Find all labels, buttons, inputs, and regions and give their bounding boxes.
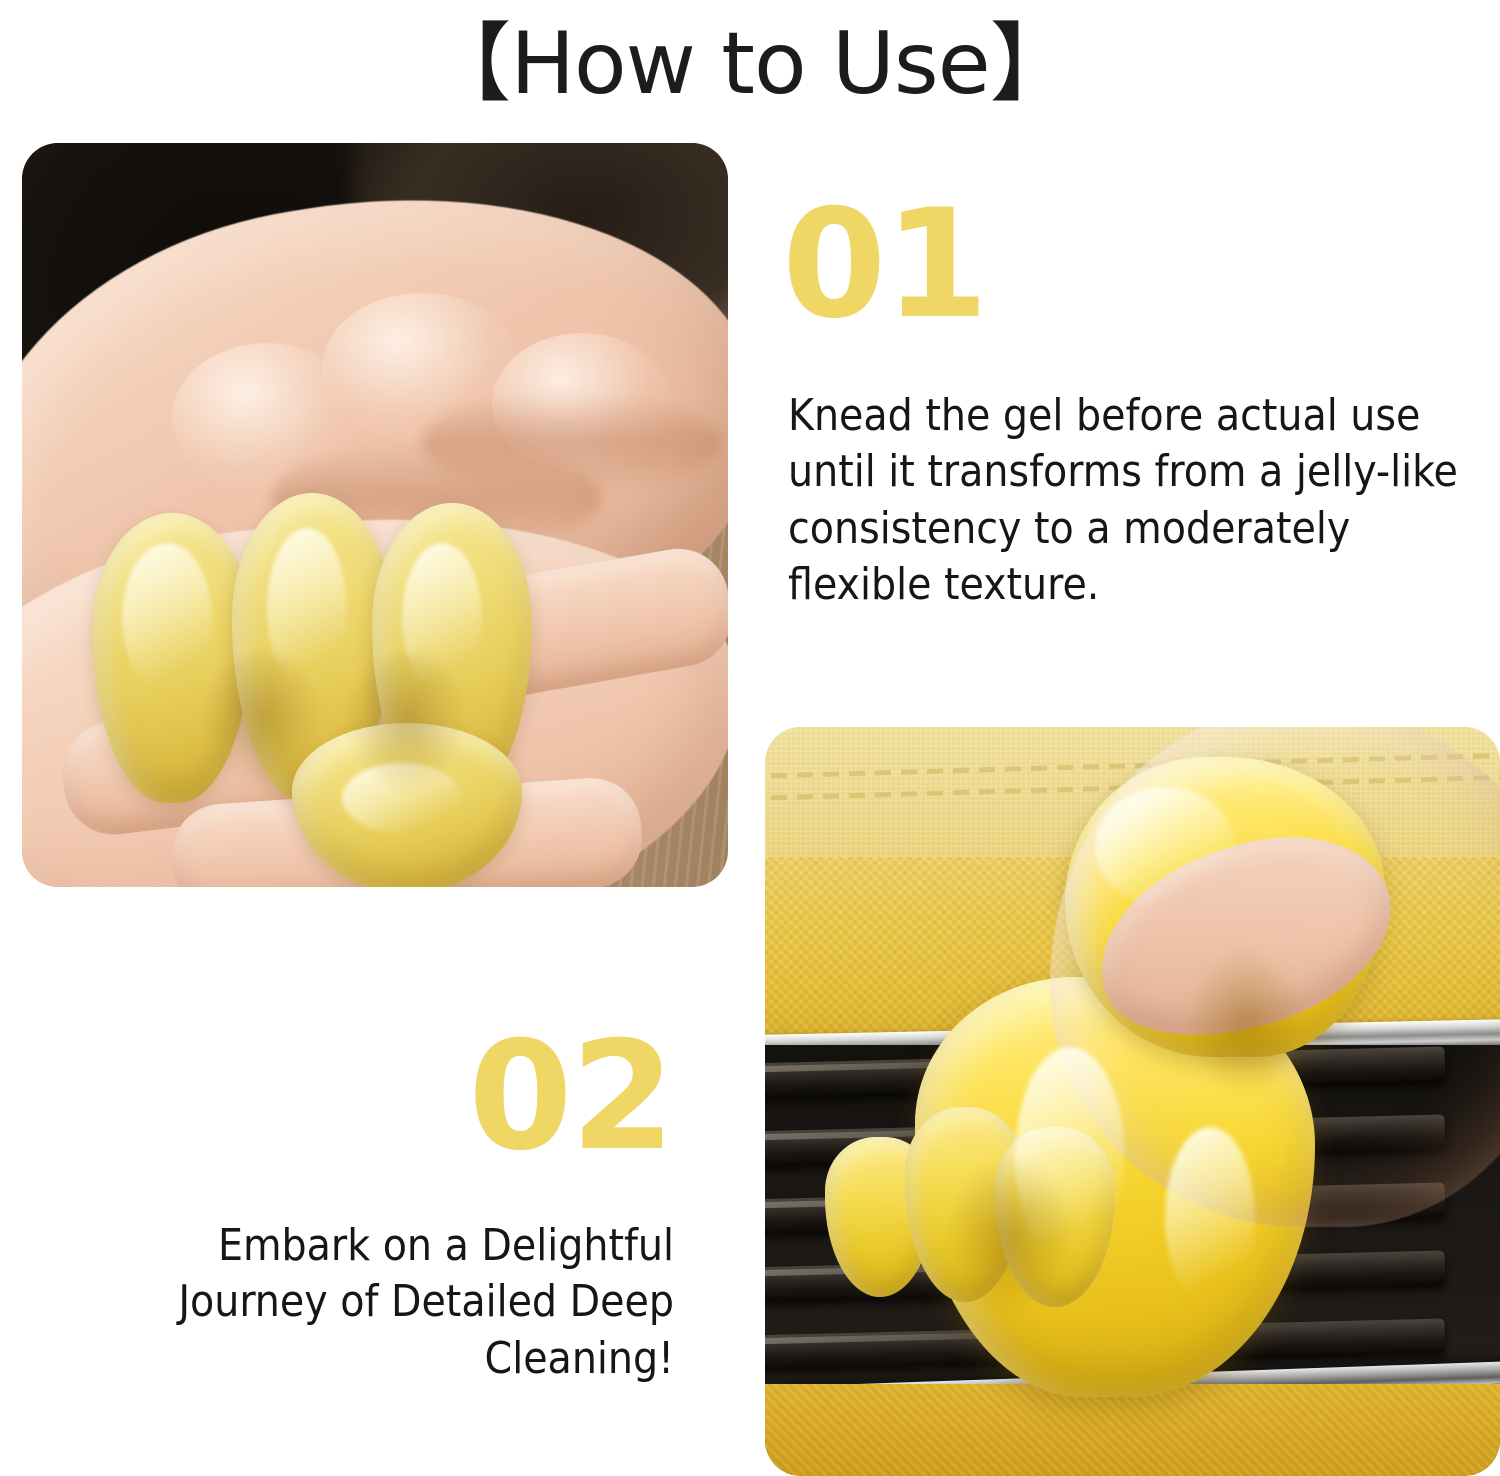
gel-highlight [1095, 787, 1235, 907]
infographic-page: 【How to Use】 01 Knead the gel b [0, 0, 1500, 1476]
page-title: 【How to Use】 [425, 21, 1074, 107]
gel-highlight [1165, 1127, 1255, 1307]
gel-shadow [347, 653, 467, 793]
step-01-number: 01 [782, 190, 987, 340]
gel-shadow [1185, 947, 1305, 1097]
step-02-text: Embark on a Delightful Journey of Detail… [62, 1218, 674, 1387]
gel-shadow [945, 1157, 1075, 1317]
step-02-number: 02 [420, 1022, 673, 1172]
page-title-bar: 【How to Use】 [0, 0, 1500, 128]
dashboard-leather-bottom [765, 1384, 1500, 1476]
photo-hand-kneading-gel [22, 143, 728, 887]
gel-blob [92, 473, 622, 887]
step-01-text: Knead the gel before actual use until it… [788, 388, 1478, 613]
photo-gel-cleaning-car-vent [765, 727, 1500, 1476]
gel-shadow [202, 653, 322, 793]
gel-highlight [122, 543, 212, 693]
